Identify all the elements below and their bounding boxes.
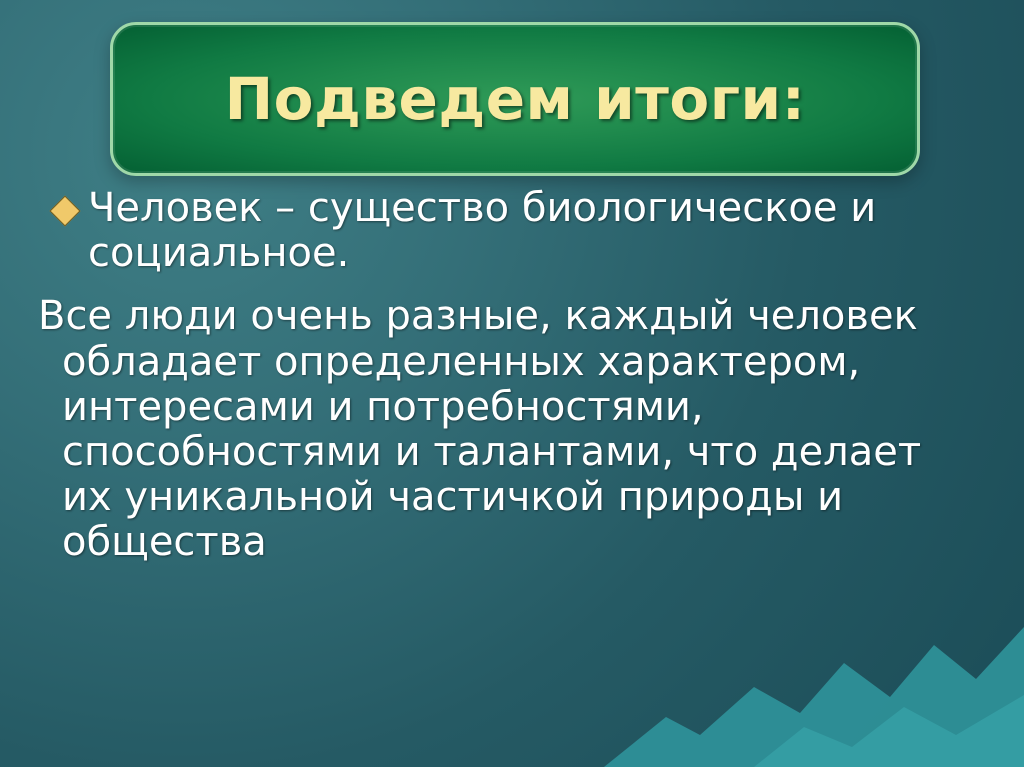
slide: Подведем итоги: Человек – существо биоло… xyxy=(0,0,1024,767)
slide-title: Подведем итоги: xyxy=(225,65,806,133)
diamond-bullet-icon xyxy=(49,195,80,226)
mountain-decoration-icon xyxy=(604,567,1024,767)
paragraph-text: Все люди очень разные, каждый человек об… xyxy=(36,294,967,565)
slide-body: Человек – существо биологическое и социа… xyxy=(36,186,986,566)
slide-title-box: Подведем итоги: xyxy=(110,22,920,176)
bullet-text: Человек – существо биологическое и социа… xyxy=(88,186,968,276)
list-item: Человек – существо биологическое и социа… xyxy=(36,186,986,276)
